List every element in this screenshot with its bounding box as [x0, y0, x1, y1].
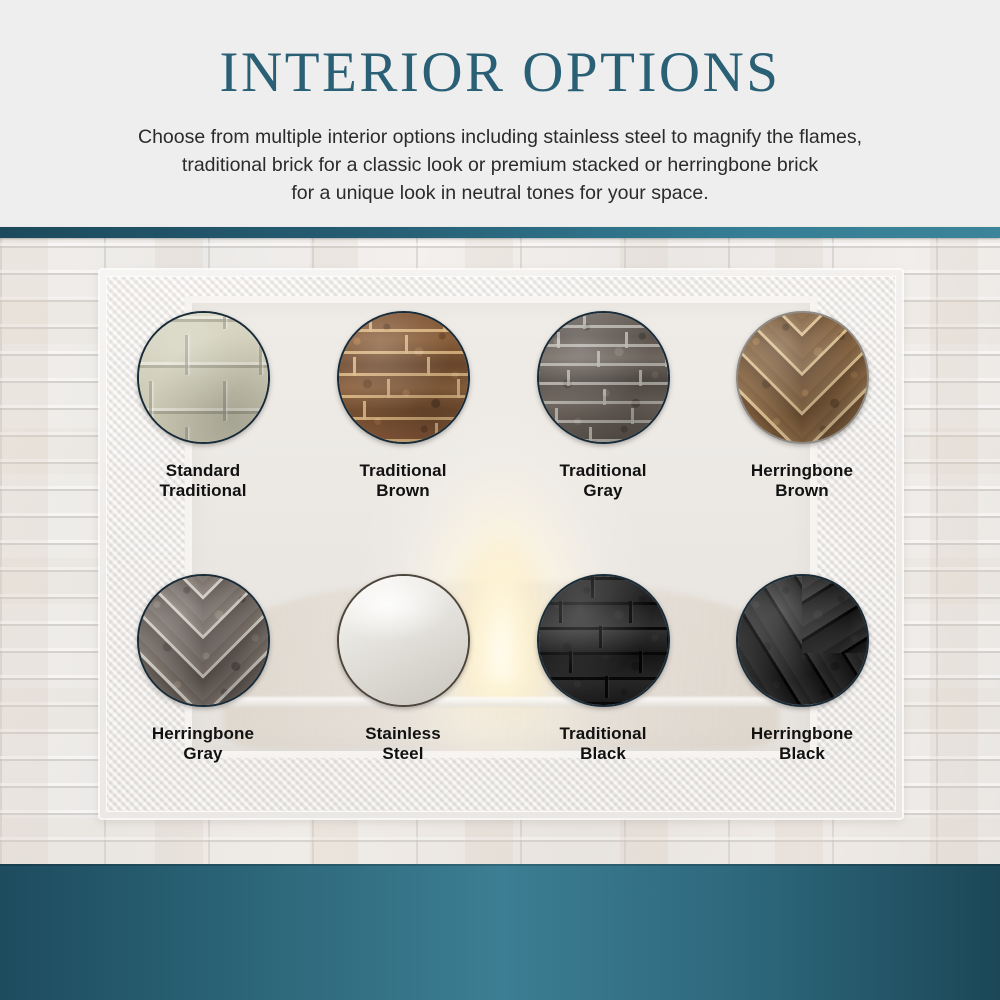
swatch-herringbone-gray[interactable]: Herringbone Gray	[103, 574, 303, 764]
label-line-2: Black	[702, 744, 902, 764]
swatch-herringbone-black[interactable]: Herringbone Black	[702, 574, 902, 764]
subtitle-line-2: traditional brick for a classic look or …	[55, 151, 945, 179]
swatch-disc-herringbone-black[interactable]	[736, 574, 869, 707]
label-line-2: Steel	[303, 744, 503, 764]
label-line-1: Traditional	[503, 461, 703, 481]
label-line-1: Standard	[103, 461, 303, 481]
swatch-herringbone-brown[interactable]: Herringbone Brown	[702, 311, 902, 501]
texture-traditional-gray	[539, 313, 668, 442]
swatch-disc-herringbone-gray[interactable]	[137, 574, 270, 707]
label-line-1: Traditional	[303, 461, 503, 481]
subtitle-line-3: for a unique look in neutral tones for y…	[55, 179, 945, 207]
header-subtitle: Choose from multiple interior options in…	[0, 123, 1000, 207]
texture-herringbone-brown	[738, 313, 867, 442]
label-line-2: Brown	[702, 481, 902, 501]
swatch-disc-traditional-gray[interactable]	[537, 311, 670, 444]
swatch-traditional-brown[interactable]: Traditional Brown	[303, 311, 503, 501]
swatch-label-standard-traditional: Standard Traditional	[103, 461, 303, 501]
texture-standard-traditional	[139, 313, 268, 442]
header-divider-rule	[0, 227, 1000, 238]
swatch-label-traditional-gray: Traditional Gray	[503, 461, 703, 501]
subtitle-line-1: Choose from multiple interior options in…	[55, 123, 945, 151]
swatch-grid: Standard Traditional	[0, 238, 1000, 864]
texture-traditional-black	[539, 576, 668, 705]
swatch-label-herringbone-black: Herringbone Black	[702, 724, 902, 764]
swatch-disc-herringbone-brown[interactable]	[736, 311, 869, 444]
footer-color-band	[0, 864, 1000, 1000]
texture-traditional-brown	[339, 313, 468, 442]
label-line-2: Gray	[103, 744, 303, 764]
swatch-label-herringbone-brown: Herringbone Brown	[702, 461, 902, 501]
swatch-label-traditional-brown: Traditional Brown	[303, 461, 503, 501]
swatch-traditional-black[interactable]: Traditional Black	[503, 574, 703, 764]
swatch-disc-standard-traditional[interactable]	[137, 311, 270, 444]
swatch-traditional-gray[interactable]: Traditional Gray	[503, 311, 703, 501]
label-line-2: Gray	[503, 481, 703, 501]
header-section: INTERIOR OPTIONS Choose from multiple in…	[0, 0, 1000, 227]
label-line-1: Herringbone	[702, 724, 902, 744]
label-line-2: Brown	[303, 481, 503, 501]
swatch-disc-traditional-black[interactable]	[537, 574, 670, 707]
swatch-standard-traditional[interactable]: Standard Traditional	[103, 311, 303, 501]
swatch-label-stainless-steel: Stainless Steel	[303, 724, 503, 764]
page-title: INTERIOR OPTIONS	[0, 0, 1000, 101]
texture-herringbone-gray	[139, 576, 268, 705]
texture-herringbone-black	[738, 576, 867, 705]
label-line-1: Stainless	[303, 724, 503, 744]
label-line-2: Traditional	[103, 481, 303, 501]
swatch-label-herringbone-gray: Herringbone Gray	[103, 724, 303, 764]
label-line-1: Traditional	[503, 724, 703, 744]
label-line-2: Black	[503, 744, 703, 764]
swatch-disc-traditional-brown[interactable]	[337, 311, 470, 444]
label-line-1: Herringbone	[702, 461, 902, 481]
texture-stainless-steel	[339, 576, 468, 705]
swatch-label-traditional-black: Traditional Black	[503, 724, 703, 764]
swatch-disc-stainless-steel[interactable]	[337, 574, 470, 707]
fireplace-photo-area: Standard Traditional	[0, 238, 1000, 864]
label-line-1: Herringbone	[103, 724, 303, 744]
swatch-stainless-steel[interactable]: Stainless Steel	[303, 574, 503, 764]
